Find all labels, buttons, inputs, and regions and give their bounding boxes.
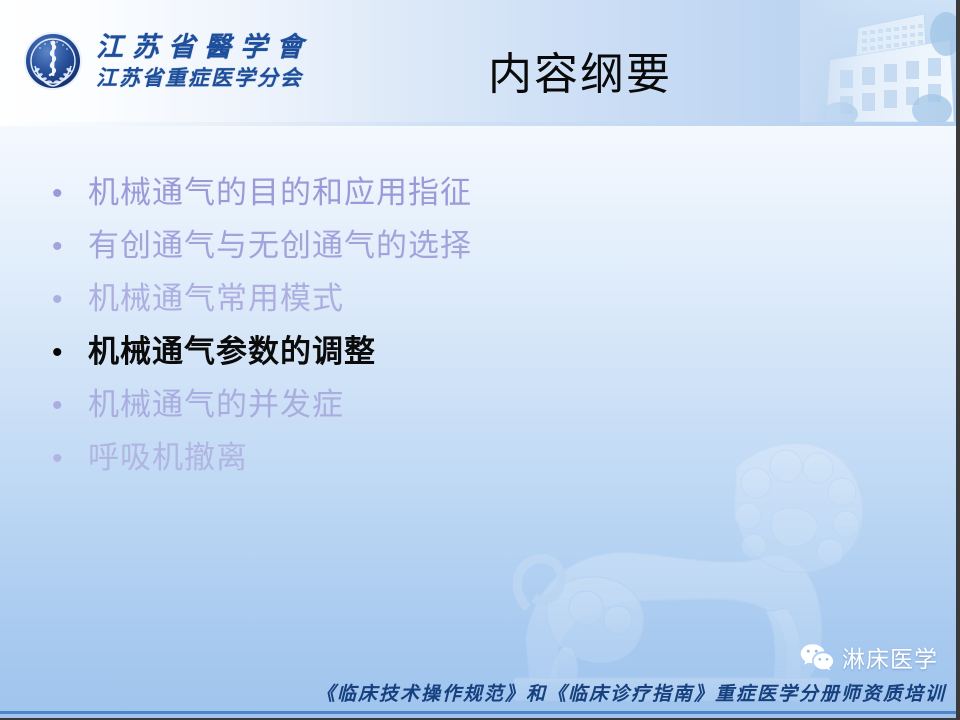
medical-society-emblem-icon — [22, 30, 84, 92]
outline-item-label: 机械通气常用模式 — [88, 282, 344, 316]
outline-item-label: 机械通气的并发症 — [88, 388, 344, 422]
society-name-primary: 江苏省醫学會 — [96, 34, 312, 61]
footer: 《临床技术操作规范》和《临床诊疗指南》重症医学分册师资质培训 — [0, 679, 956, 706]
bullet-dot-icon: • — [52, 285, 88, 315]
wechat-badge: 淋床医学 — [800, 640, 938, 674]
presentation-slide: 江苏省醫学會 江苏省重症医学分会 内容纲要 • 机械通气的目的和应用指征 • 有… — [0, 0, 960, 720]
page-title: 内容纲要 — [430, 38, 730, 102]
society-name-secondary: 江苏省重症医学分会 — [96, 67, 312, 88]
footer-divider — [0, 711, 956, 714]
outline-list: • 机械通气的目的和应用指征 • 有创通气与无创通气的选择 • 机械通气常用模式… — [52, 176, 752, 494]
footer-text: 《临床技术操作规范》和《临床诊疗指南》重症医学分册师资质培训 — [316, 679, 946, 706]
hospital-building-photo — [800, 0, 960, 122]
bullet-dot-icon: • — [52, 391, 88, 421]
slide-header: 江苏省醫学會 江苏省重症医学分会 内容纲要 — [0, 0, 960, 126]
list-item-active[interactable]: • 机械通气参数的调整 — [52, 335, 752, 388]
bullet-dot-icon: • — [52, 444, 88, 474]
outline-item-label-active: 机械通气参数的调整 — [88, 335, 376, 369]
bullet-dot-icon: • — [52, 232, 88, 262]
list-item[interactable]: • 机械通气的并发症 — [52, 388, 752, 441]
wechat-icon — [800, 643, 834, 671]
bullet-dot-icon: • — [52, 338, 88, 368]
list-item[interactable]: • 机械通气的目的和应用指征 — [52, 176, 752, 229]
bullet-dot-icon: • — [52, 179, 88, 209]
header-divider — [0, 122, 960, 126]
list-item[interactable]: • 机械通气常用模式 — [52, 282, 752, 335]
outline-item-label: 机械通气的目的和应用指征 — [88, 176, 472, 210]
list-item[interactable]: • 有创通气与无创通气的选择 — [52, 229, 752, 282]
outline-item-label: 有创通气与无创通气的选择 — [88, 229, 472, 263]
wechat-account-name: 淋床医学 — [842, 640, 938, 674]
outline-item-label: 呼吸机撤离 — [88, 441, 248, 475]
list-item[interactable]: • 呼吸机撤离 — [52, 441, 752, 494]
society-logo: 江苏省醫学會 江苏省重症医学分会 — [22, 30, 312, 92]
